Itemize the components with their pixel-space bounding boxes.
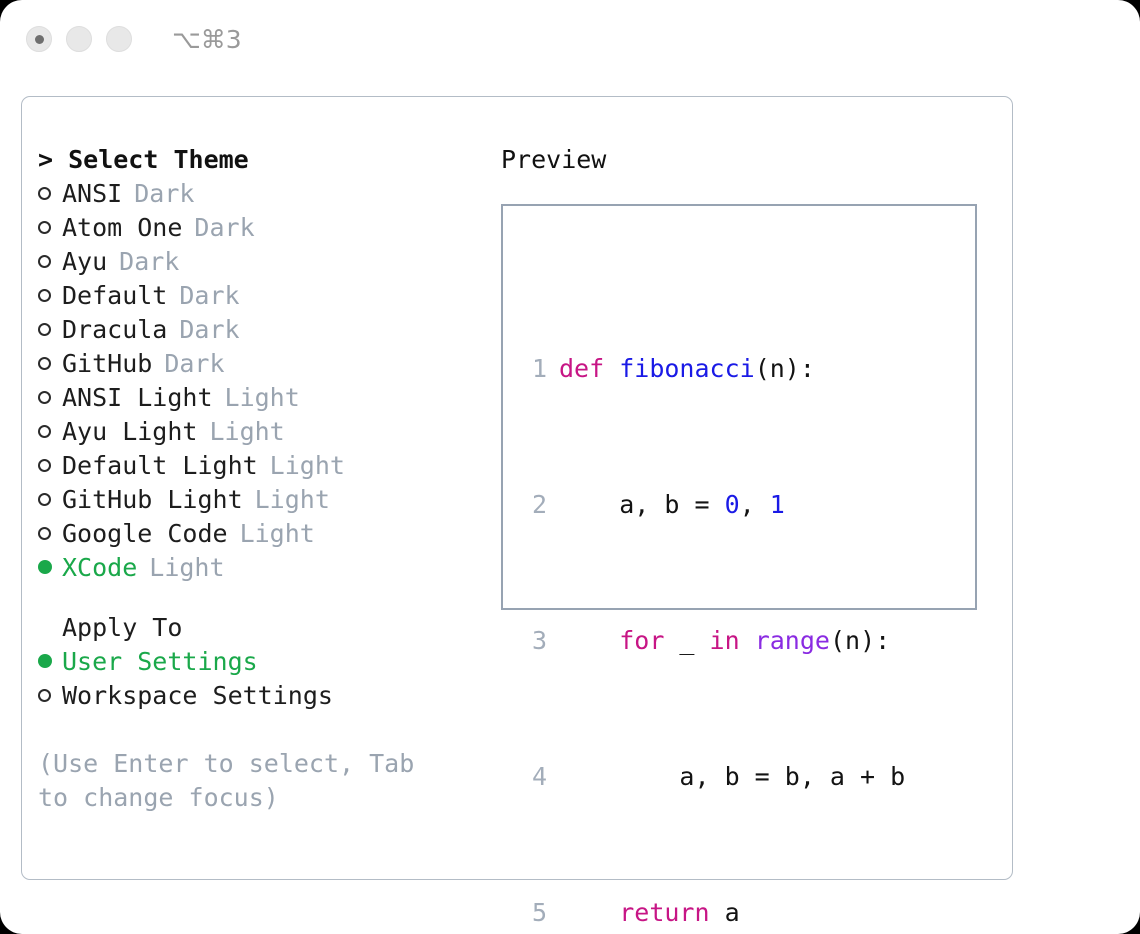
theme-name: ANSI Light (62, 381, 213, 415)
theme-name: Google Code (62, 517, 228, 551)
radio-selected-icon[interactable] (38, 551, 62, 585)
theme-list-item[interactable]: Google Code Light (38, 517, 488, 551)
theme-variant: Light (270, 449, 345, 483)
line-number: 2 (519, 488, 547, 522)
theme-name: Ayu Light (62, 415, 197, 449)
radio-unselected-icon[interactable] (38, 347, 62, 381)
code-token (559, 898, 619, 927)
code-token: (n): (755, 354, 815, 383)
line-number: 5 (519, 896, 547, 930)
select-theme-heading: > Select Theme (38, 143, 488, 177)
apply-to-option-workspace[interactable]: Workspace Settings (38, 679, 488, 713)
preview-heading: Preview (501, 143, 991, 177)
window-button-3[interactable] (106, 26, 132, 52)
code-line: 4 a, b = b, a + b (519, 760, 950, 794)
radio-unselected-icon[interactable] (38, 679, 62, 713)
code-line: 1def fibonacci(n): (519, 352, 950, 386)
code-token: _ (664, 626, 709, 655)
radio-unselected-icon[interactable] (38, 211, 62, 245)
theme-name: GitHub (62, 347, 152, 381)
radio-unselected-icon[interactable] (38, 245, 62, 279)
preview-box: 1def fibonacci(n): 2 a, b = 0, 1 3 for _… (501, 204, 977, 610)
line-number: 3 (519, 624, 547, 658)
theme-variant: Light (149, 551, 224, 585)
theme-list-item[interactable]: ANSI Light Light (38, 381, 488, 415)
apply-to-group: Apply To User Settings Workspace Setting… (38, 611, 488, 713)
theme-name: XCode (62, 551, 137, 585)
code-token: in (710, 626, 740, 655)
theme-variant: Light (209, 415, 284, 449)
theme-list-item[interactable]: Default Light Light (38, 449, 488, 483)
theme-list-item[interactable]: Dracula Dark (38, 313, 488, 347)
theme-name: GitHub Light (62, 483, 243, 517)
theme-name: Atom One (62, 211, 182, 245)
radio-unselected-icon[interactable] (38, 279, 62, 313)
theme-name: Default (62, 279, 167, 313)
theme-variant: Dark (179, 313, 239, 347)
apply-to-option-label: User Settings (62, 645, 258, 679)
theme-variant: Dark (119, 245, 179, 279)
theme-variant: Dark (179, 279, 239, 313)
theme-list-item[interactable]: GitHub Light Light (38, 483, 488, 517)
app-window: ⌥⌘3 > Select Theme ANSI Dark Atom One Da… (0, 0, 1140, 934)
radio-unselected-icon[interactable] (38, 415, 62, 449)
radio-unselected-icon[interactable] (38, 483, 62, 517)
radio-unselected-icon[interactable] (38, 313, 62, 347)
radio-unselected-icon[interactable] (38, 449, 62, 483)
code-line: 2 a, b = 0, 1 (519, 488, 950, 522)
window-button-2[interactable] (66, 26, 92, 52)
theme-list-item[interactable]: Atom One Dark (38, 211, 488, 245)
code-token: range (755, 626, 830, 655)
theme-list-item[interactable]: Default Dark (38, 279, 488, 313)
theme-variant: Light (225, 381, 300, 415)
theme-list-item[interactable]: Ayu Dark (38, 245, 488, 279)
radio-unselected-icon[interactable] (38, 517, 62, 551)
code-token: 1 (770, 490, 785, 519)
code-token: , (740, 490, 770, 519)
title-bar: ⌥⌘3 (0, 0, 1140, 78)
code-line: 3 for _ in range(n): (519, 624, 950, 658)
theme-name: Default Light (62, 449, 258, 483)
code-token: def (559, 354, 619, 383)
radio-unselected-icon[interactable] (38, 381, 62, 415)
code-token: a, b = b, a + b (559, 762, 905, 791)
theme-list-item[interactable]: GitHub Dark (38, 347, 488, 381)
code-token: for (619, 626, 664, 655)
apply-to-heading: Apply To (38, 611, 488, 645)
theme-list-item[interactable]: Ayu Light Light (38, 415, 488, 449)
theme-variant: Dark (194, 211, 254, 245)
radio-unselected-icon[interactable] (38, 177, 62, 211)
recording-indicator-dot (35, 35, 44, 44)
keyboard-shortcut-label: ⌥⌘3 (172, 25, 242, 54)
line-number: 1 (519, 352, 547, 386)
theme-list-item-selected[interactable]: XCode Light (38, 551, 488, 585)
code-token: a (710, 898, 740, 927)
code-token: fibonacci (619, 354, 754, 383)
line-number: 4 (519, 760, 547, 794)
code-preview: 1def fibonacci(n): 2 a, b = 0, 1 3 for _… (519, 250, 950, 934)
apply-to-label: Apply To (62, 611, 182, 645)
theme-name: ANSI (62, 177, 122, 211)
keyboard-hint-text: (Use Enter to select, Tab to change focu… (38, 747, 458, 815)
theme-variant: Light (255, 483, 330, 517)
code-line: 5 return a (519, 896, 950, 930)
theme-variant: Dark (134, 177, 194, 211)
radio-selected-icon[interactable] (38, 645, 62, 679)
theme-selection-column: > Select Theme ANSI Dark Atom One Dark A… (38, 143, 488, 815)
theme-list-item[interactable]: ANSI Dark (38, 177, 488, 211)
code-token (559, 626, 619, 655)
apply-to-option-user[interactable]: User Settings (38, 645, 488, 679)
preview-column: Preview (501, 143, 991, 177)
main-panel: > Select Theme ANSI Dark Atom One Dark A… (21, 96, 1013, 880)
code-token (740, 626, 755, 655)
recording-indicator-button[interactable] (26, 26, 52, 52)
code-token: 0 (725, 490, 740, 519)
theme-list: ANSI Dark Atom One Dark Ayu Dark (38, 177, 488, 585)
apply-to-option-label: Workspace Settings (62, 679, 333, 713)
code-token: return (619, 898, 709, 927)
code-token: a, b = (559, 490, 725, 519)
theme-variant: Light (240, 517, 315, 551)
theme-name: Dracula (62, 313, 167, 347)
theme-variant: Dark (164, 347, 224, 381)
theme-name: Ayu (62, 245, 107, 279)
code-token: (n): (830, 626, 890, 655)
